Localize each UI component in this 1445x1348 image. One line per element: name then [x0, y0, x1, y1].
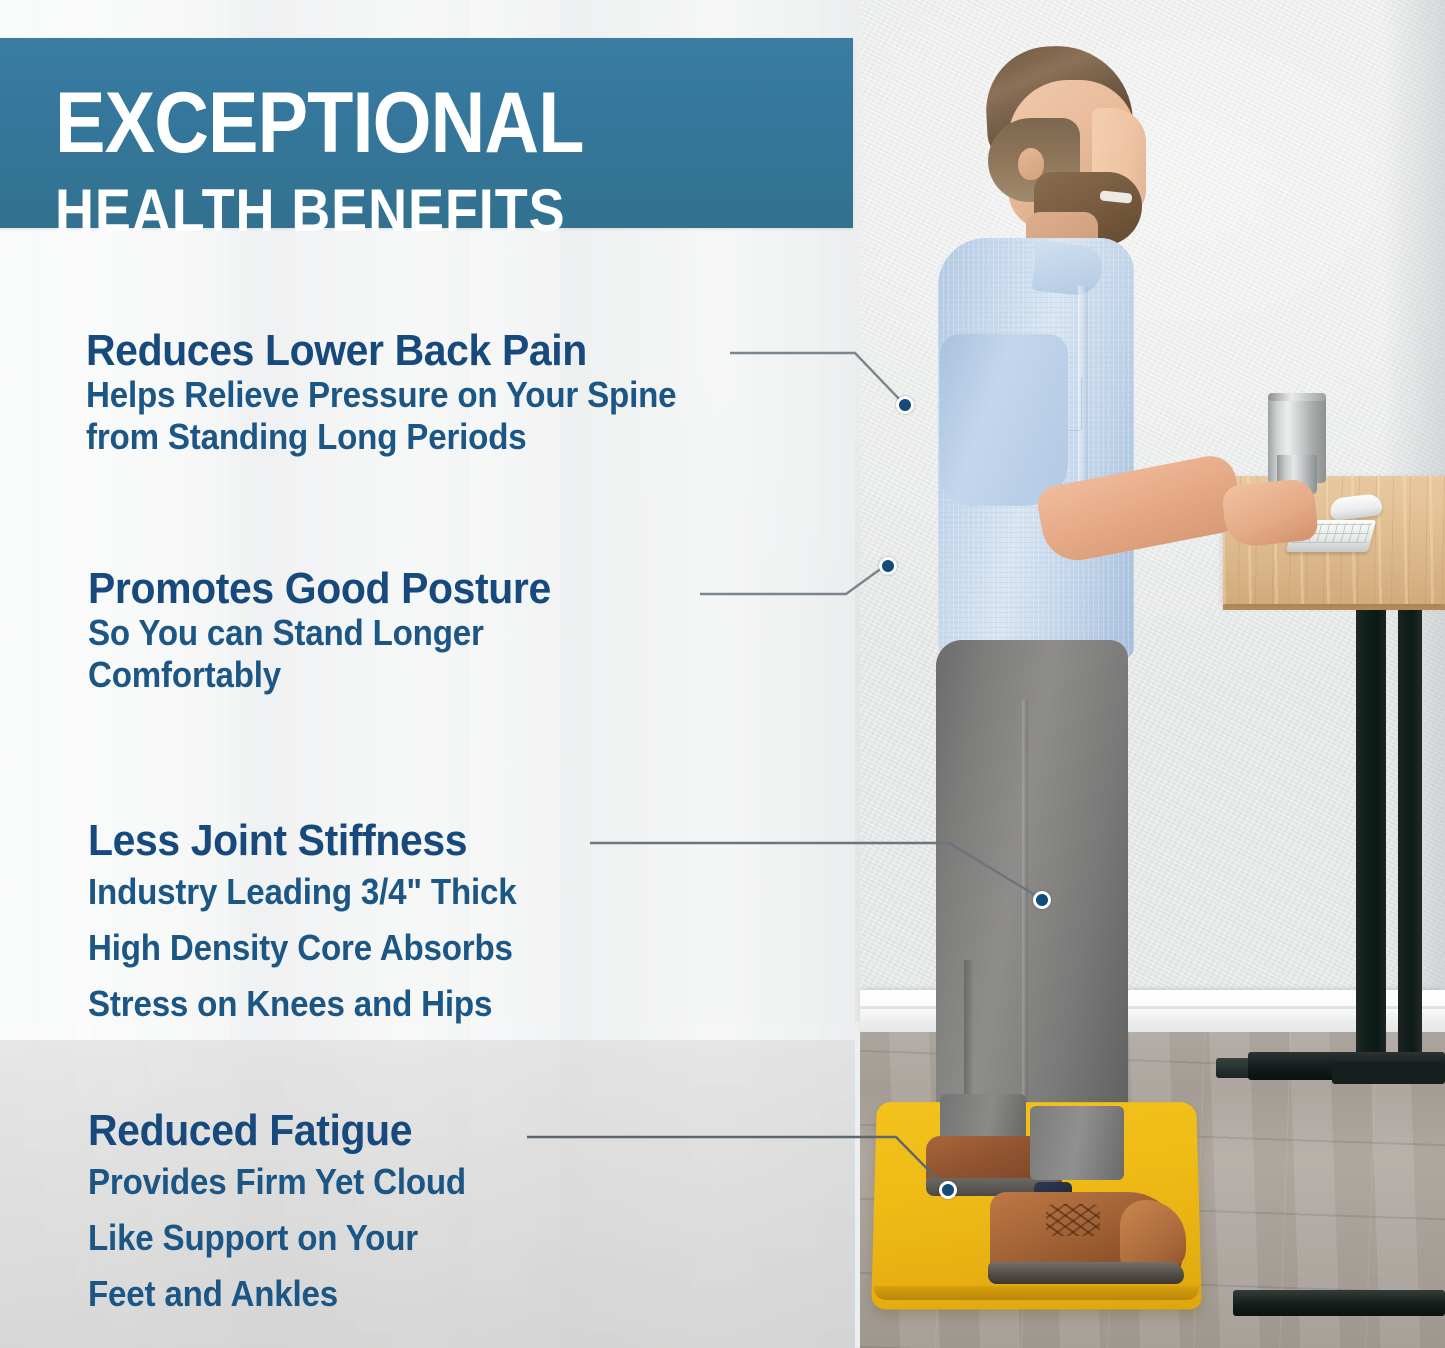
benefit-4-line-1: Provides Firm Yet Cloud: [88, 1154, 466, 1210]
benefit-block-4: Reduced Fatigue Provides Firm Yet Cloud …: [88, 1108, 499, 1322]
infographic-canvas: EXCEPTIONAL HEALTH BENEFITS Reduces Lowe…: [0, 0, 1445, 1348]
desk-leg-rear: [1398, 608, 1422, 1058]
callout-dot-knee-joint: [1033, 891, 1051, 909]
shoe-laces: [1046, 1204, 1100, 1236]
tumbler-rim: [1268, 393, 1326, 401]
desk-leg-front: [1356, 608, 1386, 1058]
benefit-2-line-1: So You can Stand Longer: [88, 612, 546, 654]
shirt-sleeve: [940, 334, 1068, 506]
benefit-4-line-2: Like Support on Your: [88, 1210, 466, 1266]
benefit-3-line-3: Stress on Knees and Hips: [88, 976, 517, 1032]
header-banner: EXCEPTIONAL HEALTH BENEFITS: [0, 38, 853, 228]
benefit-block-2: Promotes Good Posture So You can Stand L…: [88, 566, 586, 696]
benefit-1-line-1: Helps Relieve Pressure on Your Spine: [86, 374, 676, 416]
callout-dot-upper-back: [879, 557, 897, 575]
trouser-crease: [1022, 700, 1028, 1130]
benefit-3-line-2: High Density Core Absorbs: [88, 920, 517, 976]
benefit-4-line-3: Feet and Ankles: [88, 1266, 466, 1322]
desk-crossbar: [1233, 1290, 1445, 1316]
benefit-3-title: Less Joint Stiffness: [88, 818, 521, 864]
banner-title-line1: EXCEPTIONAL: [55, 80, 584, 166]
shoe-front-sole: [988, 1262, 1184, 1284]
benefit-block-1: Reduces Lower Back Pain Helps Relieve Pr…: [86, 328, 728, 458]
benefit-2-title: Promotes Good Posture: [88, 566, 551, 612]
hand: [1221, 477, 1319, 548]
benefit-block-3: Less Joint Stiffness Industry Leading 3/…: [88, 818, 554, 1032]
callout-dot-lower-back: [896, 396, 914, 414]
mat-front-edge: [874, 1286, 1199, 1300]
benefit-2-line-2: Comfortably: [88, 654, 546, 696]
benefit-1-title: Reduces Lower Back Pain: [86, 328, 683, 374]
banner-title-line2: HEALTH BENEFITS: [55, 181, 565, 241]
desk-foot-top: [1332, 1062, 1445, 1084]
benefit-3-line-1: Industry Leading 3/4" Thick: [88, 864, 517, 920]
callout-dot-mat-surface: [939, 1181, 957, 1199]
benefit-4-title: Reduced Fatigue: [88, 1108, 470, 1154]
benefit-1-line-2: from Standing Long Periods: [86, 416, 676, 458]
trouser-cuff-front: [1030, 1106, 1124, 1180]
